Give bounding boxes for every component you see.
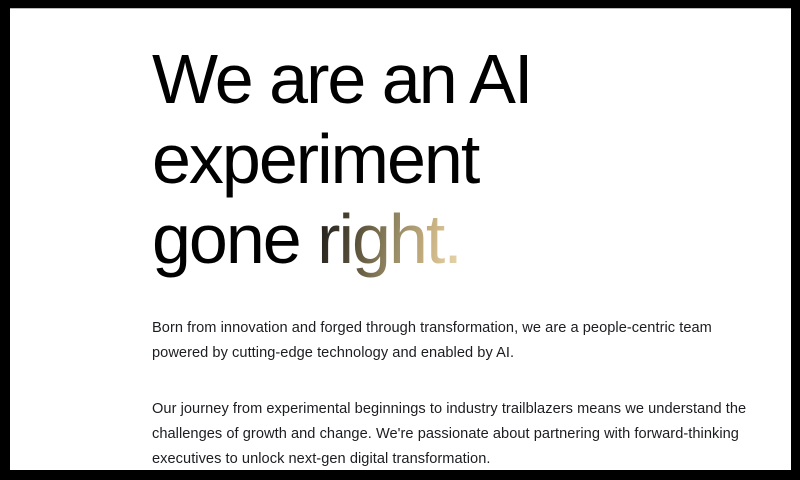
hero-heading: We are an AI experiment gone right. [152, 8, 772, 279]
content-column: We are an AI experiment gone right. Born… [152, 8, 772, 470]
page-frame-border: We are an AI experiment gone right. Born… [0, 0, 800, 480]
intro-paragraph-2: Our journey from experimental beginnings… [152, 397, 752, 470]
intro-paragraph-1: Born from innovation and forged through … [152, 316, 752, 366]
hero-line-2: experiment [152, 119, 772, 199]
hero-line-3-accent-text: right. [317, 200, 461, 278]
page-canvas: We are an AI experiment gone right. Born… [10, 8, 791, 470]
hero-line-3: gone right. [152, 199, 772, 279]
hero-line-3-plain-text: gone [152, 200, 317, 278]
hero-line-1: We are an AI [152, 39, 772, 119]
